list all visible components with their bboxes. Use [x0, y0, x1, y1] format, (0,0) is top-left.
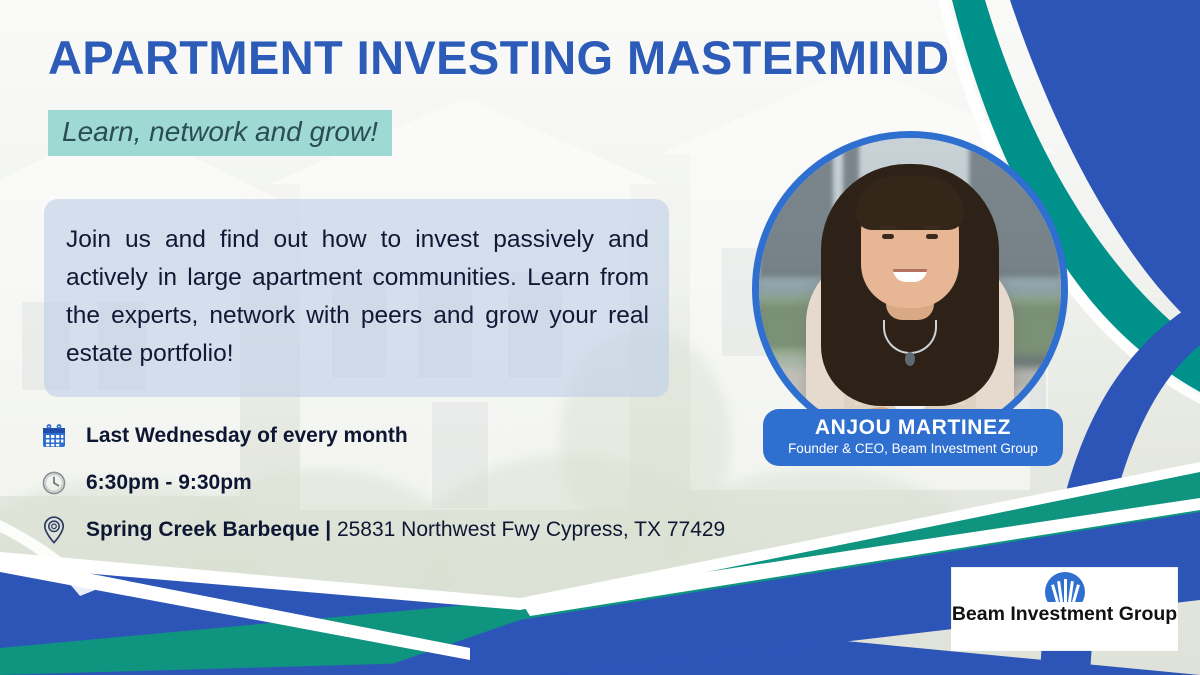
clock-icon	[36, 465, 72, 501]
speaker-role: Founder & CEO, Beam Investment Group	[773, 441, 1053, 457]
speaker-pendant	[905, 352, 915, 366]
detail-location-text: Spring Creek Barbeque | 25831 Northwest …	[86, 518, 725, 542]
detail-row-time: 6:30pm - 9:30pm	[36, 459, 816, 506]
logo-beam	[1064, 579, 1067, 602]
event-flyer: APARTMENT INVESTING MASTERMIND Learn, ne…	[0, 0, 1200, 675]
event-details: Last Wednesday of every month 6:30pm - 9…	[36, 412, 816, 553]
tagline-band: Learn, network and grow!	[48, 110, 392, 156]
speaker-eyebrow-left	[879, 226, 897, 229]
speaker-name: ANJOU MARTINEZ	[773, 416, 1053, 439]
speaker-eye-right	[926, 234, 938, 239]
speaker-eye-left	[882, 234, 894, 239]
detail-date-text: Last Wednesday of every month	[86, 424, 408, 448]
speaker-photo	[752, 131, 1068, 447]
detail-address-regular: 25831 Northwest Fwy Cypress, TX 77429	[331, 518, 725, 541]
beam-dome-icon	[1045, 572, 1085, 602]
detail-date-bold: Last Wednesday of every month	[86, 424, 408, 447]
map-pin-icon	[36, 512, 72, 548]
speaker-nameplate: ANJOU MARTINEZ Founder & CEO, Beam Inves…	[763, 409, 1063, 466]
speaker-eyebrow-right	[923, 226, 941, 229]
detail-row-date: Last Wednesday of every month	[36, 412, 816, 459]
detail-time-bold: 6:30pm - 9:30pm	[86, 471, 252, 494]
speaker-hair-top	[856, 176, 964, 230]
detail-row-location: Spring Creek Barbeque | 25831 Northwest …	[36, 506, 816, 553]
detail-time-text: 6:30pm - 9:30pm	[86, 471, 252, 495]
detail-venue-bold: Spring Creek Barbeque |	[86, 518, 331, 541]
page-title: APARTMENT INVESTING MASTERMIND	[48, 30, 950, 85]
speaker-photo-ring	[752, 131, 1068, 447]
company-name: Beam Investment Group	[952, 603, 1177, 626]
company-logo-card: Beam Investment Group	[952, 568, 1177, 650]
calendar-icon	[36, 418, 72, 454]
description-card: Join us and find out how to invest passi…	[44, 199, 669, 397]
